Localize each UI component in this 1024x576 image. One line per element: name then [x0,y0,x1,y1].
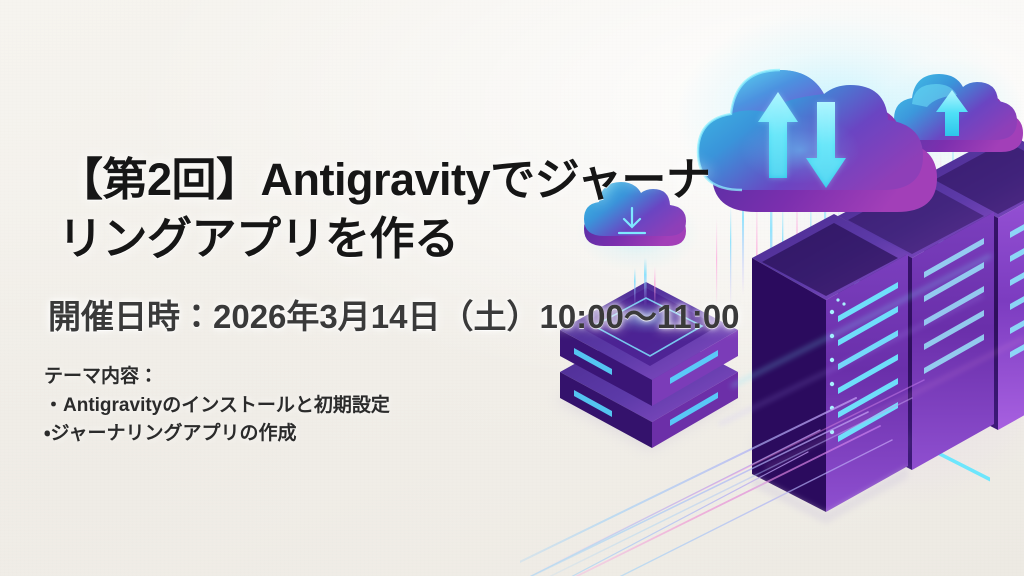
event-datetime: 開催日時：2026年3月14日（土）10:00〜11:00 [48,290,739,338]
theme-list: ・Antigravityのインストールと初期設定 ・ジャーナリングアプリの作成 [44,392,390,448]
cloud-datacenter-illustration [520,0,1024,576]
page-title: 【第2回】Antigravityでジャーナ リングアプリを作る [58,150,848,269]
list-item: ・Antigravityのインストールと初期設定 [44,392,390,420]
theme-section: テーマ内容： ・Antigravityのインストールと初期設定 ・ジャーナリング… [44,361,390,448]
list-item: ・ジャーナリングアプリの作成 [44,420,390,448]
storage-stack-icon [556,258,738,450]
theme-heading: テーマ内容： [44,361,390,388]
slide-canvas: 【第2回】Antigravityでジャーナ リングアプリを作る 開催日時：202… [0,0,1024,576]
